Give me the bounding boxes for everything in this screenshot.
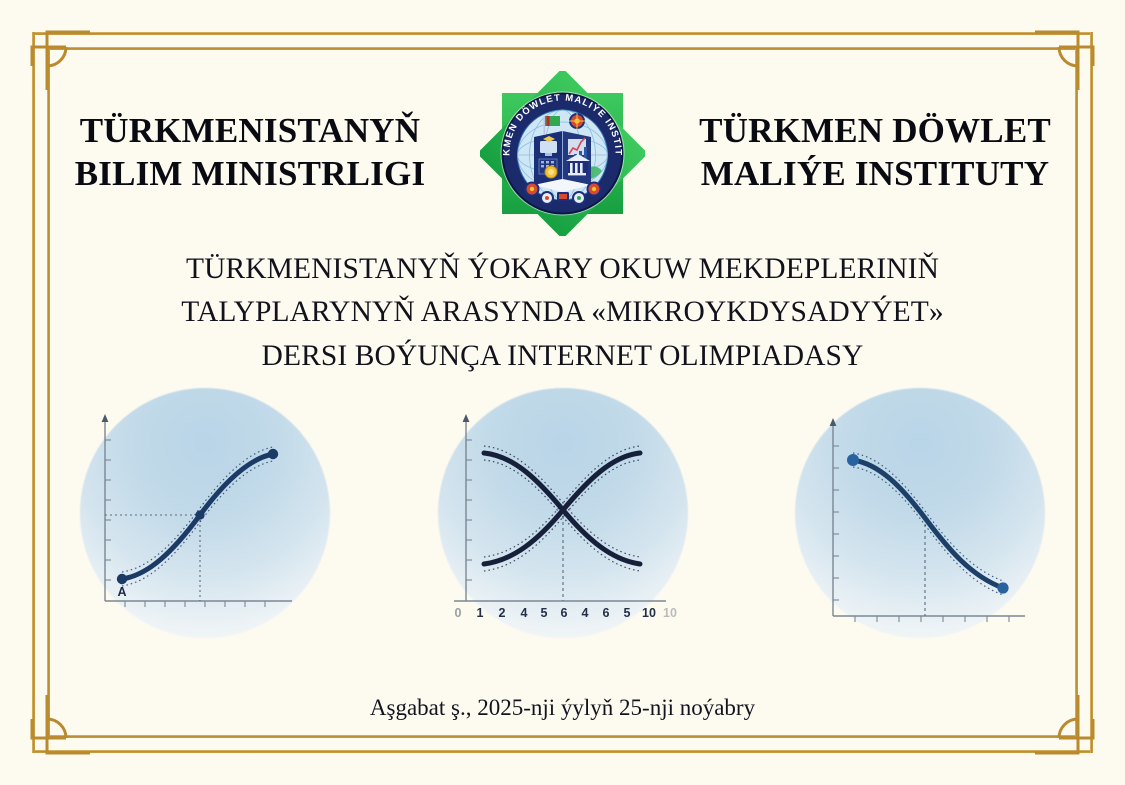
institute-name: TÜRKMEN DÖWLET MALIÝE INSTITUTY [675, 110, 1075, 195]
emblem-carpet-medallion-top [569, 113, 585, 129]
frame-outer-left [32, 32, 35, 753]
x-tick-9: 10 [642, 606, 656, 620]
chart-dotted-lower-left [122, 461, 273, 586]
x-tick-0: 0 [454, 606, 461, 620]
chart-dotted-upper-right [853, 453, 1003, 581]
chart-illustrations: A [60, 388, 1065, 663]
page-title-line-1: TÜRKMENISTANYŇ ÝOKARY OKUW MEKDEPLERINIŇ [90, 248, 1035, 291]
frame-inner-top [47, 47, 1078, 50]
ministry-name: TÜRKMENISTANYŇ BILIM MINISTRLIGI [50, 110, 450, 195]
frame-outer-bottom [32, 750, 1093, 753]
page-title: TÜRKMENISTANYŇ ÝOKARY OKUW MEKDEPLERINIŇ… [90, 248, 1035, 378]
x-tick-8: 5 [623, 606, 630, 620]
x-tick-7: 6 [602, 606, 609, 620]
poster-page: TÜRKMENISTANYŇ BILIM MINISTRLIGI [0, 0, 1125, 785]
page-title-line-3: DERSI BOÝUNÇA INTERNET OLIMPIADASY [90, 335, 1035, 378]
x-tick-6: 4 [581, 606, 588, 620]
x-tick-10: 10 [663, 606, 677, 620]
chart-crossing-curves: 0 1 2 4 5 6 4 6 5 10 10 [418, 388, 708, 663]
chart-markers-left [117, 449, 278, 584]
x-tick-5: 6 [560, 606, 567, 620]
chart-x-tick-labels-center: 0 1 2 4 5 6 4 6 5 10 10 [454, 606, 676, 620]
frame-inner-bottom [47, 735, 1078, 738]
chart-curve-increasing [484, 453, 640, 564]
header: TÜRKMENISTANYŇ BILIM MINISTRLIGI [50, 78, 1075, 228]
institute-emblem: TÜRKMEN DÖWLET MALIÝE INSTITUTY [480, 71, 645, 236]
event-date: Aşgabat ş., 2025-nji ýylyň 25-nji noýabr… [0, 695, 1125, 721]
chart-decreasing-curve [775, 388, 1065, 663]
page-title-line-2: TALYPLARYNYŇ ARASYNDA «MIKROYKDYSADYÝET» [90, 291, 1035, 334]
chart-curve-right [853, 460, 1003, 588]
x-tick-4: 5 [540, 606, 547, 620]
chart-point-label-a: A [117, 585, 126, 599]
x-tick-2: 2 [498, 606, 505, 620]
frame-inner-right [1075, 47, 1078, 738]
x-tick-3: 4 [520, 606, 527, 620]
chart-increasing-sigmoid: A [60, 388, 350, 663]
x-tick-1: 1 [476, 606, 483, 620]
frame-outer-top [32, 32, 1093, 35]
frame-outer-right [1090, 32, 1093, 753]
